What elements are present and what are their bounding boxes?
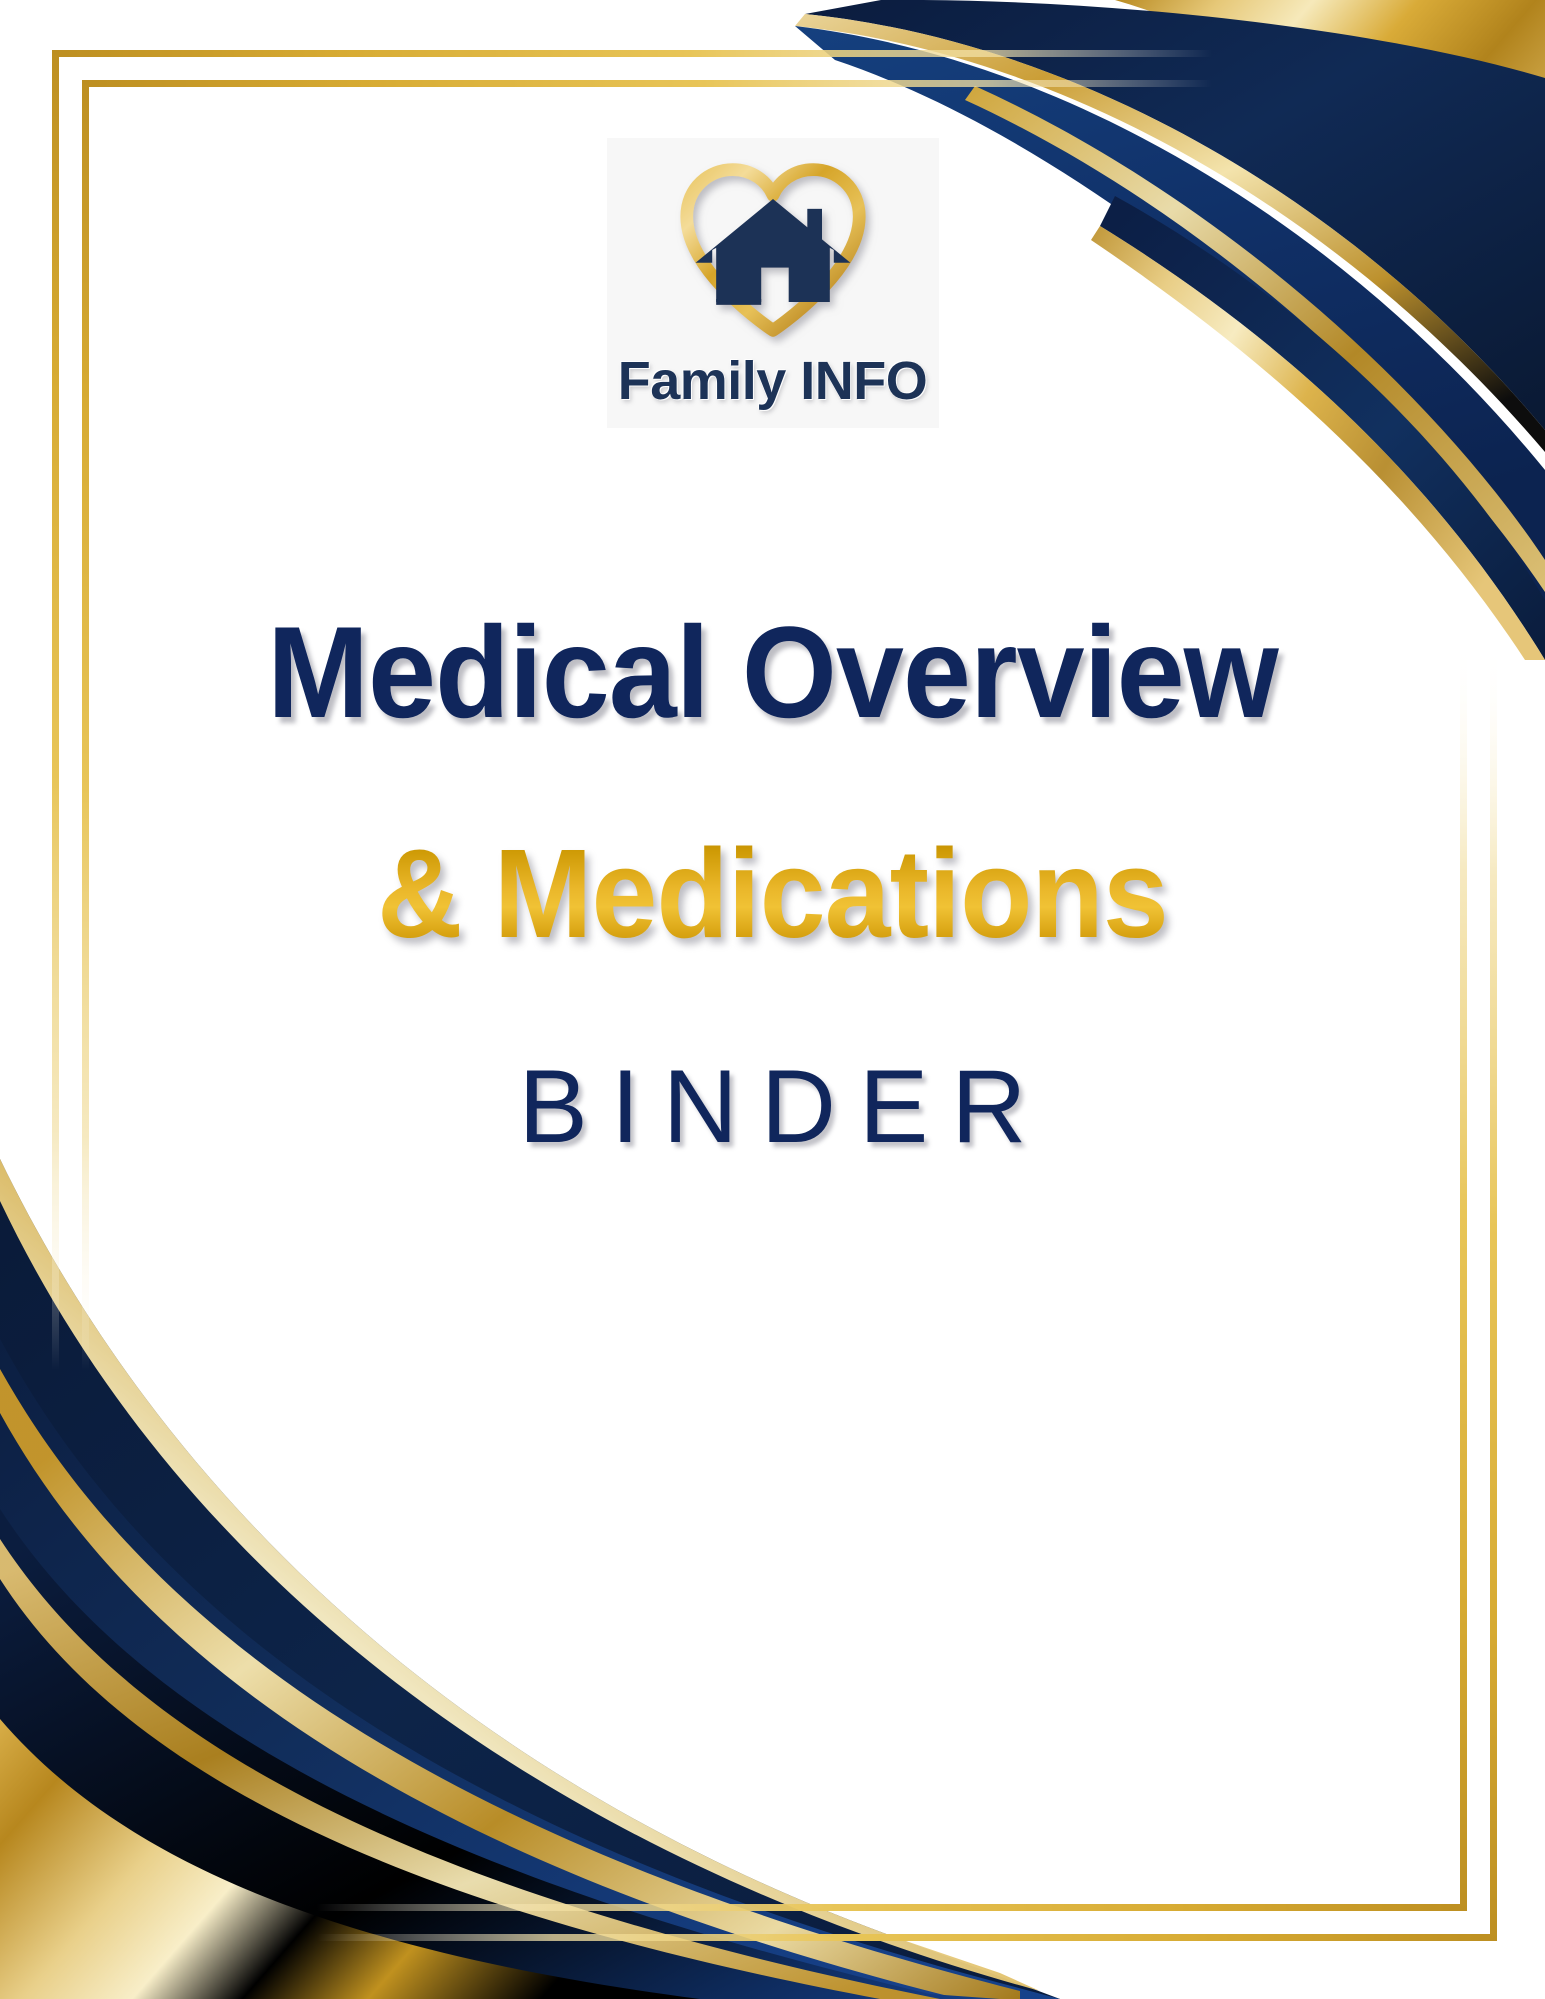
- heart-house-logo-icon: [655, 152, 891, 348]
- cover-title-line-3: BINDER: [0, 1053, 1545, 1162]
- brand-logo: Family INFO: [607, 138, 939, 428]
- bottom-left-swoosh-decoration: [0, 1039, 1060, 1999]
- cover-title-line-2: & Medications: [46, 828, 1498, 960]
- house-icon: [695, 199, 850, 305]
- logo-wordmark: Family INFO: [618, 354, 928, 408]
- cover-page: Family INFO Medical Overview & Medicatio…: [0, 0, 1545, 1999]
- cover-title-line-1: Medical Overview: [46, 604, 1498, 741]
